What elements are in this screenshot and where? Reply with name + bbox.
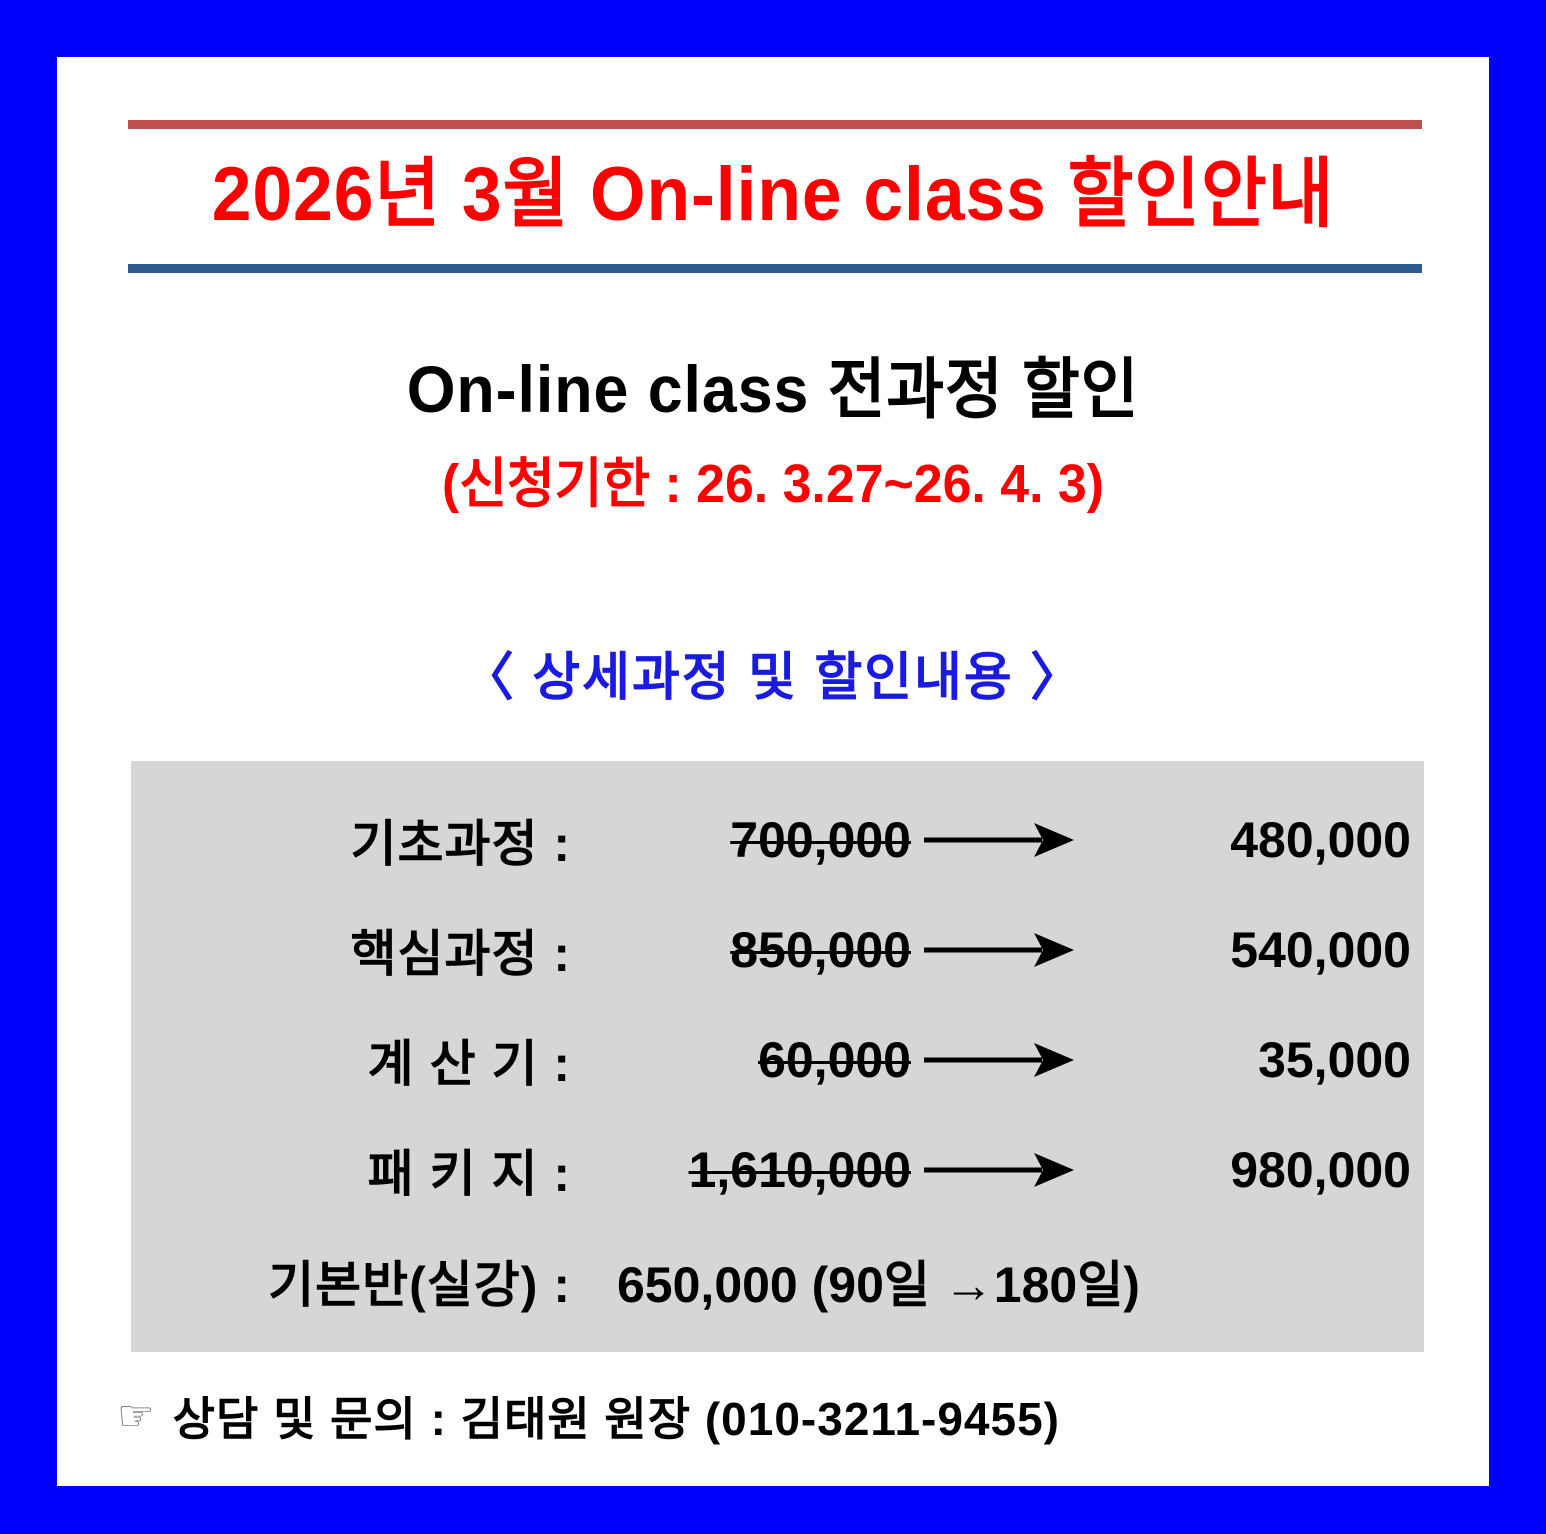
original-price: 1,610,000 (581, 1141, 911, 1199)
divider-top (128, 120, 1422, 129)
table-row: 기본반(실강) : 650,000 (90일 →180일) (131, 1225, 1424, 1337)
contact-text: 상담 및 문의 : 김태원 원장 (010-3211-9455) (173, 1383, 1060, 1449)
poster-root: 2026년 3월 On-line class 할인안내 On-line clas… (0, 0, 1546, 1534)
discounted-price: 480,000 (1086, 811, 1411, 869)
original-price: 700,000 (581, 811, 911, 869)
table-row: 기초과정 : 700,000 480,000 (131, 785, 1424, 895)
original-price: 850,000 (581, 921, 911, 979)
original-price: 60,000 (581, 1031, 911, 1089)
page-title: 2026년 3월 On-line class 할인안내 (100, 145, 1446, 245)
table-row: 패 키 지 : 1,610,000 980,000 (131, 1115, 1424, 1225)
price-note: 650,000 (90일 →180일) (581, 1245, 1424, 1317)
discounted-price: 980,000 (1086, 1141, 1411, 1199)
course-label: 기본반(실강) : (131, 1245, 581, 1317)
right-arrow-icon (911, 817, 1086, 863)
price-table: 기초과정 : 700,000 480,000 핵심과정 : 850,000 (131, 761, 1424, 1352)
discounted-price: 35,000 (1086, 1031, 1411, 1089)
subtitle: On-line class 전과정 할인 (93, 345, 1453, 433)
poster-sheet: 2026년 3월 On-line class 할인안내 On-line clas… (57, 57, 1489, 1486)
right-arrow-icon (911, 927, 1086, 973)
discounted-price: 540,000 (1086, 921, 1411, 979)
contact-footer: ☞ 상담 및 문의 : 김태원 원장 (010-3211-9455) (117, 1383, 1437, 1449)
table-row: 계 산 기 : 60,000 35,000 (131, 1005, 1424, 1115)
application-period: (신청기한 : 26. 3.27~26. 4. 3) (86, 447, 1461, 521)
pointing-hand-icon: ☞ (117, 1395, 155, 1437)
section-heading: 〈 상세과정 및 할인내용 〉 (57, 643, 1489, 713)
course-label: 핵심과정 : (131, 914, 581, 986)
course-label: 기초과정 : (131, 804, 581, 876)
course-label: 계 산 기 : (131, 1024, 581, 1096)
right-arrow-icon (911, 1037, 1086, 1083)
divider-bottom (128, 264, 1422, 273)
right-arrow-icon (911, 1147, 1086, 1193)
table-row: 핵심과정 : 850,000 540,000 (131, 895, 1424, 1005)
course-label: 패 키 지 : (131, 1134, 581, 1206)
